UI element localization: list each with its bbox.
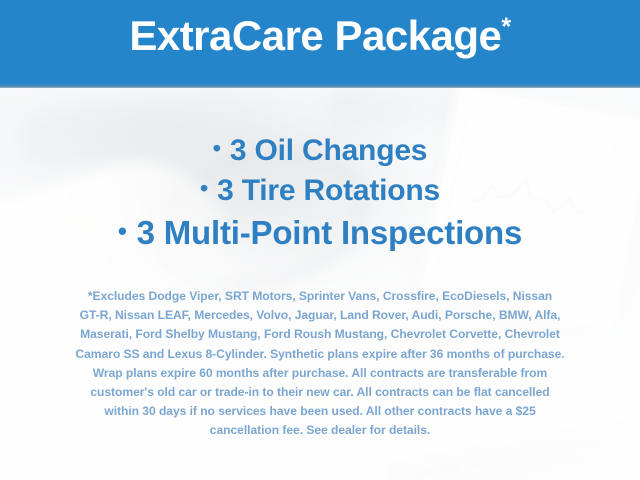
disclaimer-line: Camaro SS and Lexus 8-Cylinder. Syntheti… [28,345,612,364]
benefit-label: 3 Oil Changes [230,134,427,167]
benefit-label: 3 Tire Rotations [217,174,440,207]
benefit-item-tire-rotations: • 3 Tire Rotations [0,176,640,206]
benefit-item-multi-point-inspections: • 3 Multi-Point Inspections [0,216,640,249]
title-asterisk: * [501,13,510,41]
disclaimer-line: GT-R, Nissan LEAF, Mercedes, Volvo, Jagu… [28,306,612,325]
disclaimer-line: cancellation fee. See dealer for details… [28,421,612,440]
benefit-item-oil-changes: • 3 Oil Changes [0,136,640,166]
bullet-dot-icon: • [200,175,209,201]
benefits-list: • 3 Oil Changes • 3 Tire Rotations • 3 M… [0,136,640,249]
disclaimer-line: *Excludes Dodge Viper, SRT Motors, Sprin… [28,287,612,306]
header-band-edge [0,84,640,88]
disclaimer-line: Wrap plans expire 60 months after purcha… [28,364,612,383]
disclaimer-text: *Excludes Dodge Viper, SRT Motors, Sprin… [28,287,612,441]
extracare-package-poster: ExtraCare Package* • 3 Oil Changes • 3 T… [0,0,640,480]
disclaimer-line: customer's old car or trade-in to their … [28,383,612,402]
disclaimer-line: Maserati, Ford Shelby Mustang, Ford Rous… [28,325,612,344]
disclaimer-line: within 30 days if no services have been … [28,402,612,421]
page-title-text: ExtraCare Package [129,12,501,59]
bullet-dot-icon: • [213,135,222,161]
page-title: ExtraCare Package* [0,12,640,60]
bullet-dot-icon: • [118,218,128,246]
benefit-label: 3 Multi-Point Inspections [137,214,523,251]
